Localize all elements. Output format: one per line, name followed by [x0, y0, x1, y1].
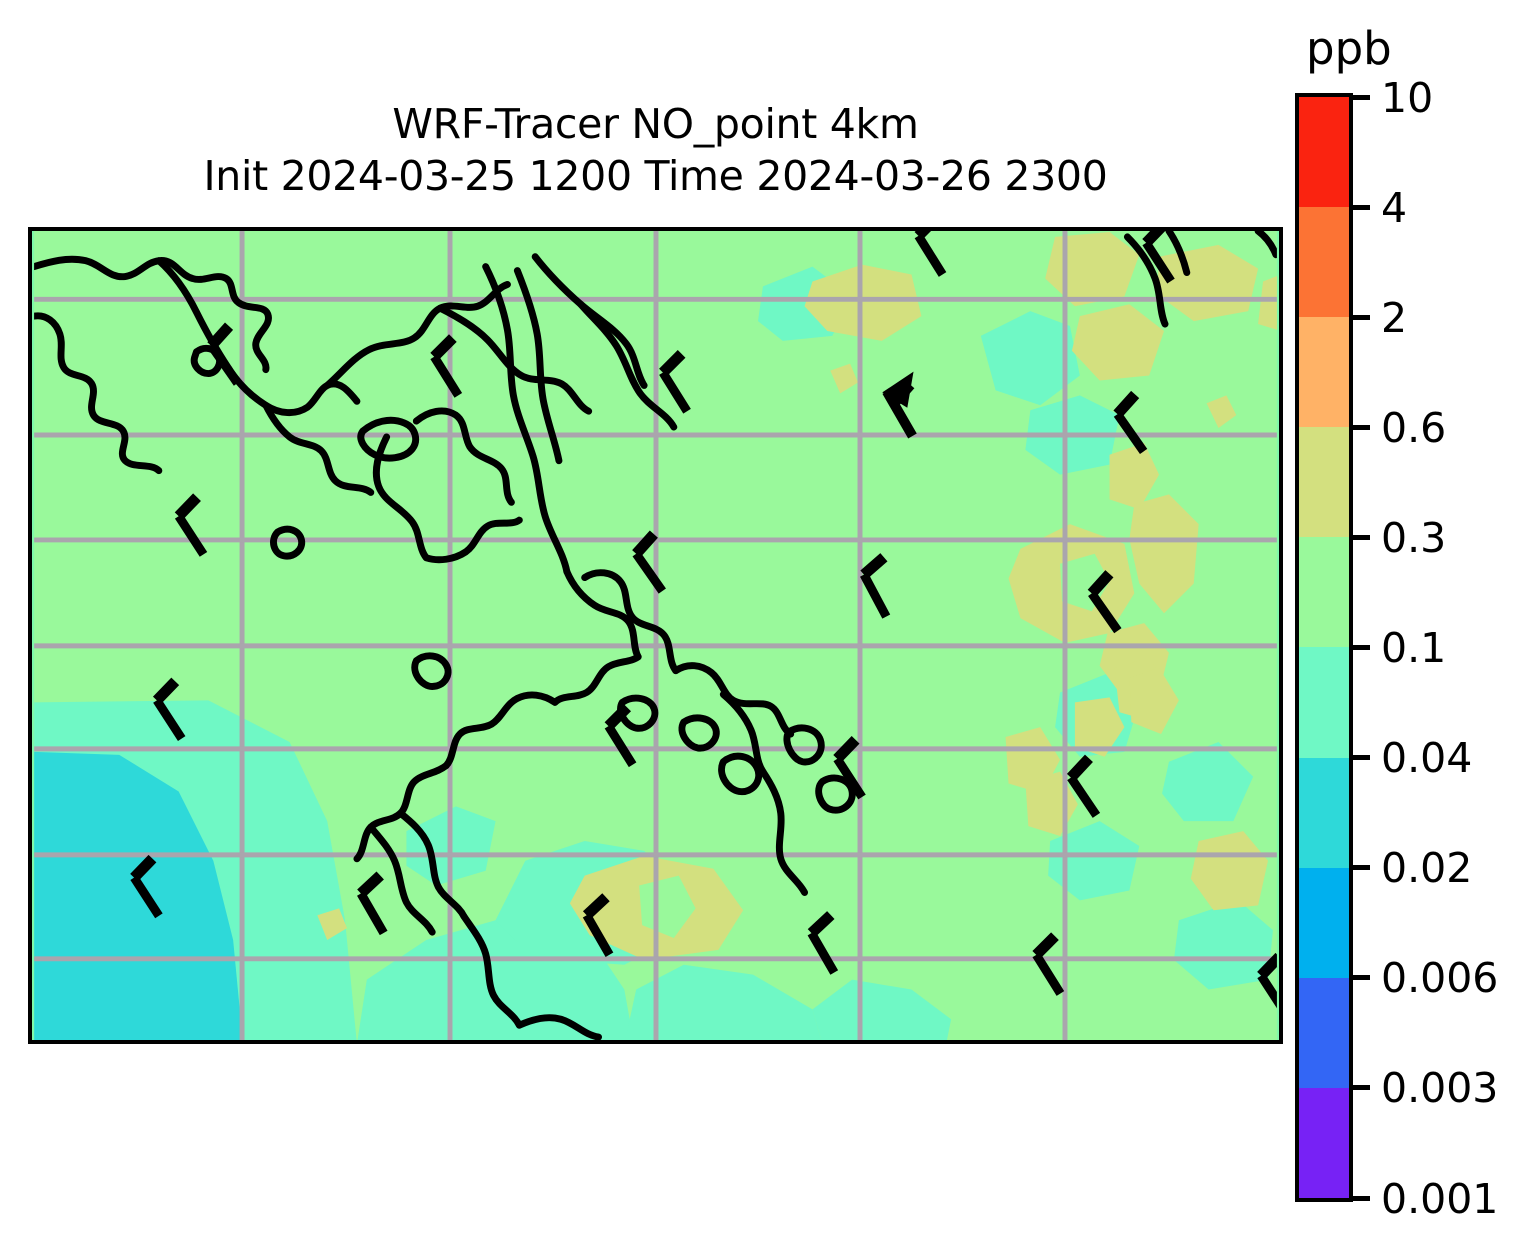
title-line-model: WRF-Tracer NO_point 4km: [28, 98, 1283, 150]
colorbar-tick-label: 0.003: [1381, 1068, 1498, 1109]
colorbar-tick-label: 0.3: [1381, 518, 1446, 559]
colorbar-band: [1299, 978, 1349, 1088]
colorbar-tick-label: 2: [1381, 298, 1407, 339]
colorbar-tick-label: 0.001: [1381, 1179, 1498, 1220]
colorbar-band: [1299, 97, 1349, 207]
colorbar-tick-mark: [1353, 865, 1370, 870]
colorbar-band: [1299, 758, 1349, 868]
colorbar-band: [1299, 207, 1349, 317]
map-panel[interactable]: [28, 227, 1283, 1044]
map-contour-plot: [28, 227, 1283, 1044]
colorbar-band: [1299, 647, 1349, 757]
colorbar-tick-mark: [1353, 205, 1370, 210]
colorbar-tick-label: 0.02: [1381, 848, 1472, 889]
figure-canvas: WRF-Tracer NO_point 4km Init 2024-03-25 …: [0, 0, 1528, 1256]
colorbar-tick-mark: [1353, 1196, 1370, 1201]
colorbar-tick-mark: [1353, 645, 1370, 650]
colorbar-tick-mark: [1353, 755, 1370, 760]
colorbar-band: [1299, 1088, 1349, 1198]
colorbar-tick-mark: [1353, 425, 1370, 430]
colorbar-tick-label: 0.006: [1381, 958, 1498, 999]
colorbar[interactable]: [1295, 93, 1353, 1202]
colorbar-tick-mark: [1353, 1085, 1370, 1090]
colorbar-unit-label: ppb: [1306, 26, 1392, 71]
colorbar-tick-label: 0.04: [1381, 738, 1472, 779]
colorbar-tick-group: 10420.60.30.10.040.020.0060.0030.001: [1353, 93, 1523, 1202]
colorbar-tick-mark: [1353, 535, 1370, 540]
colorbar-tick-mark: [1353, 95, 1370, 100]
colorbar-band: [1299, 317, 1349, 427]
title-line-times: Init 2024-03-25 1200 Time 2024-03-26 230…: [28, 150, 1283, 202]
colorbar-tick-label: 10: [1381, 78, 1433, 119]
colorbar-tick-label: 0.1: [1381, 628, 1446, 669]
colorbar-band: [1299, 868, 1349, 978]
colorbar-band: [1299, 537, 1349, 647]
colorbar-tick-mark: [1353, 315, 1370, 320]
colorbar-tick-label: 4: [1381, 188, 1407, 229]
colorbar-tick-label: 0.6: [1381, 408, 1446, 449]
figure-title: WRF-Tracer NO_point 4km Init 2024-03-25 …: [28, 98, 1283, 203]
colorbar-tick-mark: [1353, 975, 1370, 980]
colorbar-band: [1299, 427, 1349, 537]
